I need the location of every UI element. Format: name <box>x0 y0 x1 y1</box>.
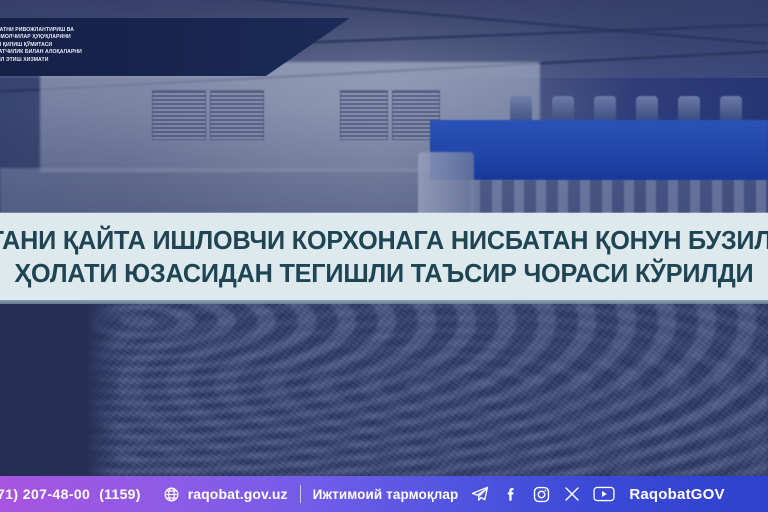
wall-vent <box>340 90 388 140</box>
instagram-icon[interactable] <box>532 485 551 504</box>
machine-head <box>552 96 574 122</box>
footer-divider <box>300 485 301 503</box>
logo-line-2: ИСТЕЪМОЛЧИЛАР ҲУҚУҚЛАРИНИ <box>0 34 118 41</box>
headline-band: ПАХТАНИ ҚАЙТА ИШЛОВЧИ КОРХОНАГА НИСБАТАН… <box>0 213 768 301</box>
news-poster: РАҚОБАТНИ РИВОЖЛАНТИРИШ ВА ИСТЕЪМОЛЧИЛАР… <box>0 0 768 512</box>
globe-icon <box>163 486 180 503</box>
social-icon-group <box>470 484 615 504</box>
x-icon[interactable] <box>563 485 581 503</box>
machine-head <box>510 96 532 122</box>
social-handle[interactable]: RaqobatGOV <box>629 486 724 503</box>
logo-line-3: ҲИМОЯ ҚИЛИШ ҚЎМИТАСИ <box>0 42 118 49</box>
website-url[interactable]: raqobat.gov.uz <box>188 486 288 502</box>
phone-extension: (1159) <box>99 486 141 502</box>
logo-line-1: РАҚОБАТНИ РИВОЖЛАНТИРИШ ВА <box>0 27 118 34</box>
headline-line-1: ПАХТАНИ ҚАЙТА ИШЛОВЧИ КОРХОНАГА НИСБАТАН… <box>0 224 768 257</box>
phone-number: (71) 207-48-00 <box>0 486 90 502</box>
left-shadow-overlay <box>0 300 120 476</box>
logo-line-4: ЖАМОАТЧИЛИК БИЛАН АЛОҚАЛАРНИ <box>0 49 118 56</box>
wall-vent <box>152 90 206 140</box>
youtube-icon[interactable] <box>593 485 615 503</box>
photo-divider-edge <box>0 300 768 304</box>
organization-logo-text: РАҚОБАТНИ РИВОЖЛАНТИРИШ ВА ИСТЕЪМОЛЧИЛАР… <box>0 27 118 64</box>
raw-material-photo-bottom <box>0 300 768 476</box>
machine-head <box>594 96 616 122</box>
machine-head <box>678 96 700 122</box>
logo-line-5: ТАШКИЛ ЭТИШ ХИЗМАТИ <box>0 57 118 64</box>
processing-machine-bank <box>430 120 768 180</box>
storage-tank <box>418 152 474 222</box>
facebook-icon[interactable] <box>502 485 520 503</box>
machine-head <box>720 96 742 122</box>
contact-footer-bar: (71) 207-48-00 (1159) raqobat.gov.uz Ижт… <box>0 476 768 512</box>
telegram-icon[interactable] <box>470 484 490 504</box>
machine-head <box>636 96 658 122</box>
headline-line-2: ҲОЛАТИ ЮЗАСИДАН ТЕГИШЛИ ТАЪСИР ЧОРАСИ КЎ… <box>14 257 753 290</box>
wall-vent <box>210 90 264 140</box>
social-networks-label: Ижтимоий тармоқлар <box>313 487 459 502</box>
